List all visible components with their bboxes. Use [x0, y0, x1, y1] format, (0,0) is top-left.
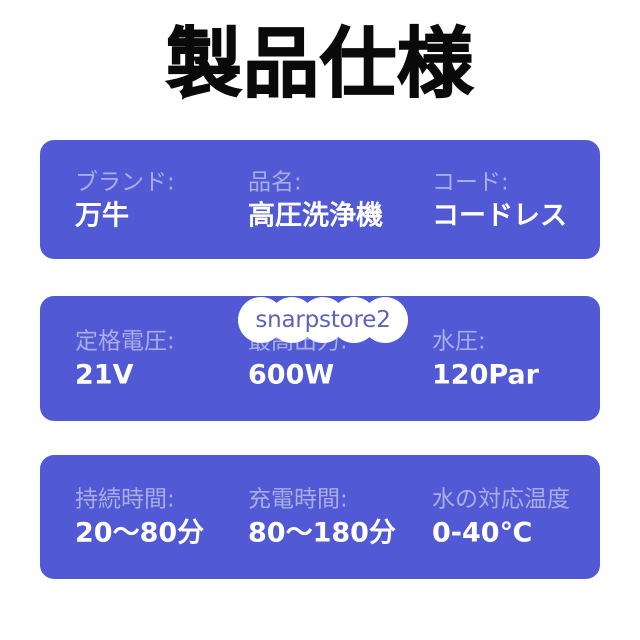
spec-value-water-temperature: 0-40℃	[432, 517, 570, 550]
spec-panel-runtime: 持続時間: 20〜80分 充電時間: 80〜180分 水の対応温度 0-40℃	[40, 455, 600, 579]
spec-cell-brand: ブランド: 万牛	[75, 167, 175, 232]
spec-label-rated-voltage: 定格電圧:	[75, 326, 175, 356]
spec-cell-cord: コード: コードレス	[432, 167, 567, 232]
product-spec-page: 製品仕様 ブランド: 万牛 品名: 高圧洗浄機 コード: コードレス 定格電圧:…	[0, 0, 640, 640]
spec-value-product-name: 高圧洗浄機	[248, 199, 383, 232]
spec-value-max-output: 600W	[248, 358, 348, 391]
spec-value-rated-voltage: 21V	[75, 358, 175, 391]
spec-cell-water-temperature: 水の対応温度 0-40℃	[432, 485, 570, 550]
spec-cell-runtime: 持続時間: 20〜80分	[75, 485, 204, 550]
spec-value-runtime: 20〜80分	[75, 517, 204, 550]
spec-panel-electrical: 定格電圧: 21V 最高出力: 600W 水圧: 120Par	[40, 296, 600, 421]
spec-label-cord: コード:	[432, 167, 567, 197]
spec-row: 定格電圧: 21V 最高出力: 600W 水圧: 120Par	[40, 296, 600, 421]
spec-label-brand: ブランド:	[75, 167, 175, 197]
spec-label-runtime: 持続時間:	[75, 485, 204, 515]
spec-value-cord: コードレス	[432, 199, 567, 232]
spec-label-max-output: 最高出力:	[248, 326, 348, 356]
spec-cell-max-output: 最高出力: 600W	[248, 326, 348, 391]
spec-label-product-name: 品名:	[248, 167, 383, 197]
spec-row: 持続時間: 20〜80分 充電時間: 80〜180分 水の対応温度 0-40℃	[40, 455, 600, 579]
spec-label-water-pressure: 水圧:	[432, 326, 539, 356]
spec-label-water-temperature: 水の対応温度	[432, 485, 570, 515]
spec-value-water-pressure: 120Par	[432, 358, 539, 391]
spec-value-charge-time: 80〜180分	[248, 517, 396, 550]
spec-panel-basic-info: ブランド: 万牛 品名: 高圧洗浄機 コード: コードレス	[40, 140, 600, 259]
spec-label-charge-time: 充電時間:	[248, 485, 396, 515]
spec-value-brand: 万牛	[75, 199, 175, 232]
spec-cell-water-pressure: 水圧: 120Par	[432, 326, 539, 391]
spec-cell-product-name: 品名: 高圧洗浄機	[248, 167, 383, 232]
page-title: 製品仕様	[0, 22, 640, 106]
spec-cell-charge-time: 充電時間: 80〜180分	[248, 485, 396, 550]
spec-cell-rated-voltage: 定格電圧: 21V	[75, 326, 175, 391]
spec-row: ブランド: 万牛 品名: 高圧洗浄機 コード: コードレス	[40, 140, 600, 259]
